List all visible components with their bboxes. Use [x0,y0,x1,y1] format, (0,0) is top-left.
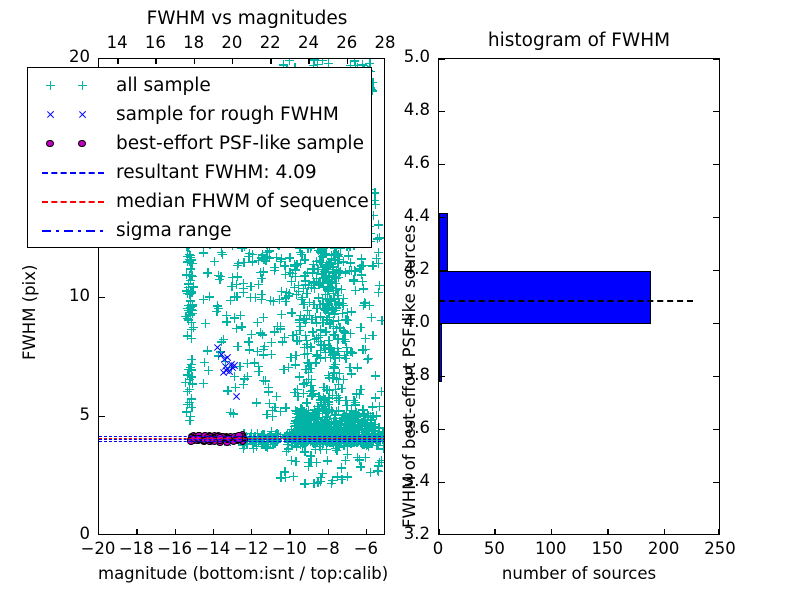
right-plot-area [438,58,720,535]
right-ytick-label: 5.0 [404,49,430,66]
plus-marker-icon [46,81,55,90]
right-xtick-label: 100 [535,541,567,558]
left-xtick-label: −10 [272,541,307,558]
legend-item-label: best-effort PSF-like sample [116,134,364,153]
left-ytick-label: 10 [69,288,90,305]
legend-item: sigma range [28,216,371,245]
left-panel-xlabel: magnitude (bottom:isnt / top:calib) [98,566,385,583]
cross-marker-icon [78,110,87,119]
legend-item-label: resultant FWHM: 4.09 [116,163,317,182]
left-top-xtick-label: 22 [260,35,281,52]
left-xtick-label: −20 [81,541,116,558]
legend: all samplesample for rough FWHMbest-effo… [27,67,372,248]
left-top-xtick-label: 16 [145,35,166,52]
resultant-fwhm-line [439,300,693,302]
legend-handle [36,187,110,216]
left-xtick-label: −16 [157,541,192,558]
histogram-bar [439,213,448,271]
legend-item: best-effort PSF-like sample [28,129,371,158]
right-ytick-label: 4.8 [404,102,430,119]
right-panel-xlabel: number of sources [438,566,720,583]
left-xtick-label: −6 [354,541,378,558]
legend-item-label: sigma range [116,221,232,240]
dashed-line-icon [42,172,104,174]
left-ytick-label: 20 [69,49,90,66]
legend-item-label: all sample [116,76,211,95]
dot-marker-icon [46,140,54,148]
left-panel-title: FWHM vs magnitudes [112,10,382,29]
plus-marker-icon [78,81,87,90]
legend-handle [36,216,110,245]
right-panel-ylabel: FWHM of best-effort PSF-like sources [402,225,419,528]
left-top-xtick-label: 18 [183,35,204,52]
legend-item: all sample [28,71,371,100]
legend-handle [36,129,110,158]
right-xtick-label: 150 [591,541,623,558]
histogram-bar [439,271,651,324]
left-top-xtick-label: 20 [221,35,242,52]
left-xtick-label: −12 [234,541,269,558]
left-panel-ylabel: FWHM (pix) [22,265,39,360]
legend-handle [36,71,110,100]
left-xtick-label: −14 [195,541,230,558]
cross-marker-icon [46,110,55,119]
histogram-bar [439,324,442,382]
right-xtick-label: 200 [648,541,680,558]
figure-canvas: FWHM vs magnitudes 1416182022242628 −20−… [0,0,800,600]
legend-item-label: sample for rough FWHM [116,105,339,124]
legend-item-label: median FHWM of sequence [116,192,369,211]
left-top-xtick-label: 26 [336,35,357,52]
right-ytick-label: 3.2 [404,526,430,543]
legend-item: median FHWM of sequence [28,187,371,216]
left-xtick-label: −18 [119,541,154,558]
legend-handle [36,158,110,187]
left-ytick-label: 5 [80,407,91,424]
legend-handle [36,100,110,129]
left-top-xtick-label: 24 [298,35,319,52]
left-top-xtick-label: 14 [107,35,128,52]
left-ytick-label: 0 [80,526,91,543]
sigma-range-line-upper [99,436,385,437]
right-xtick-label: 250 [704,541,736,558]
dashed-line-icon [42,201,104,203]
legend-item: resultant FWHM: 4.09 [28,158,371,187]
right-xtick-label: 50 [484,541,505,558]
left-xtick-label: −8 [315,541,339,558]
sigma-range-line-lower [99,441,385,442]
legend-item: sample for rough FWHM [28,100,371,129]
right-xtick-label: 0 [433,541,444,558]
right-ytick-label: 4.4 [404,208,430,225]
dot-marker-icon [78,140,86,148]
right-panel-title: histogram of FWHM [438,32,720,51]
dash-dot-line-icon [42,230,104,232]
left-top-xtick-label: 28 [375,35,396,52]
right-ytick-label: 4.6 [404,155,430,172]
resultant-fwhm-line [99,439,385,440]
